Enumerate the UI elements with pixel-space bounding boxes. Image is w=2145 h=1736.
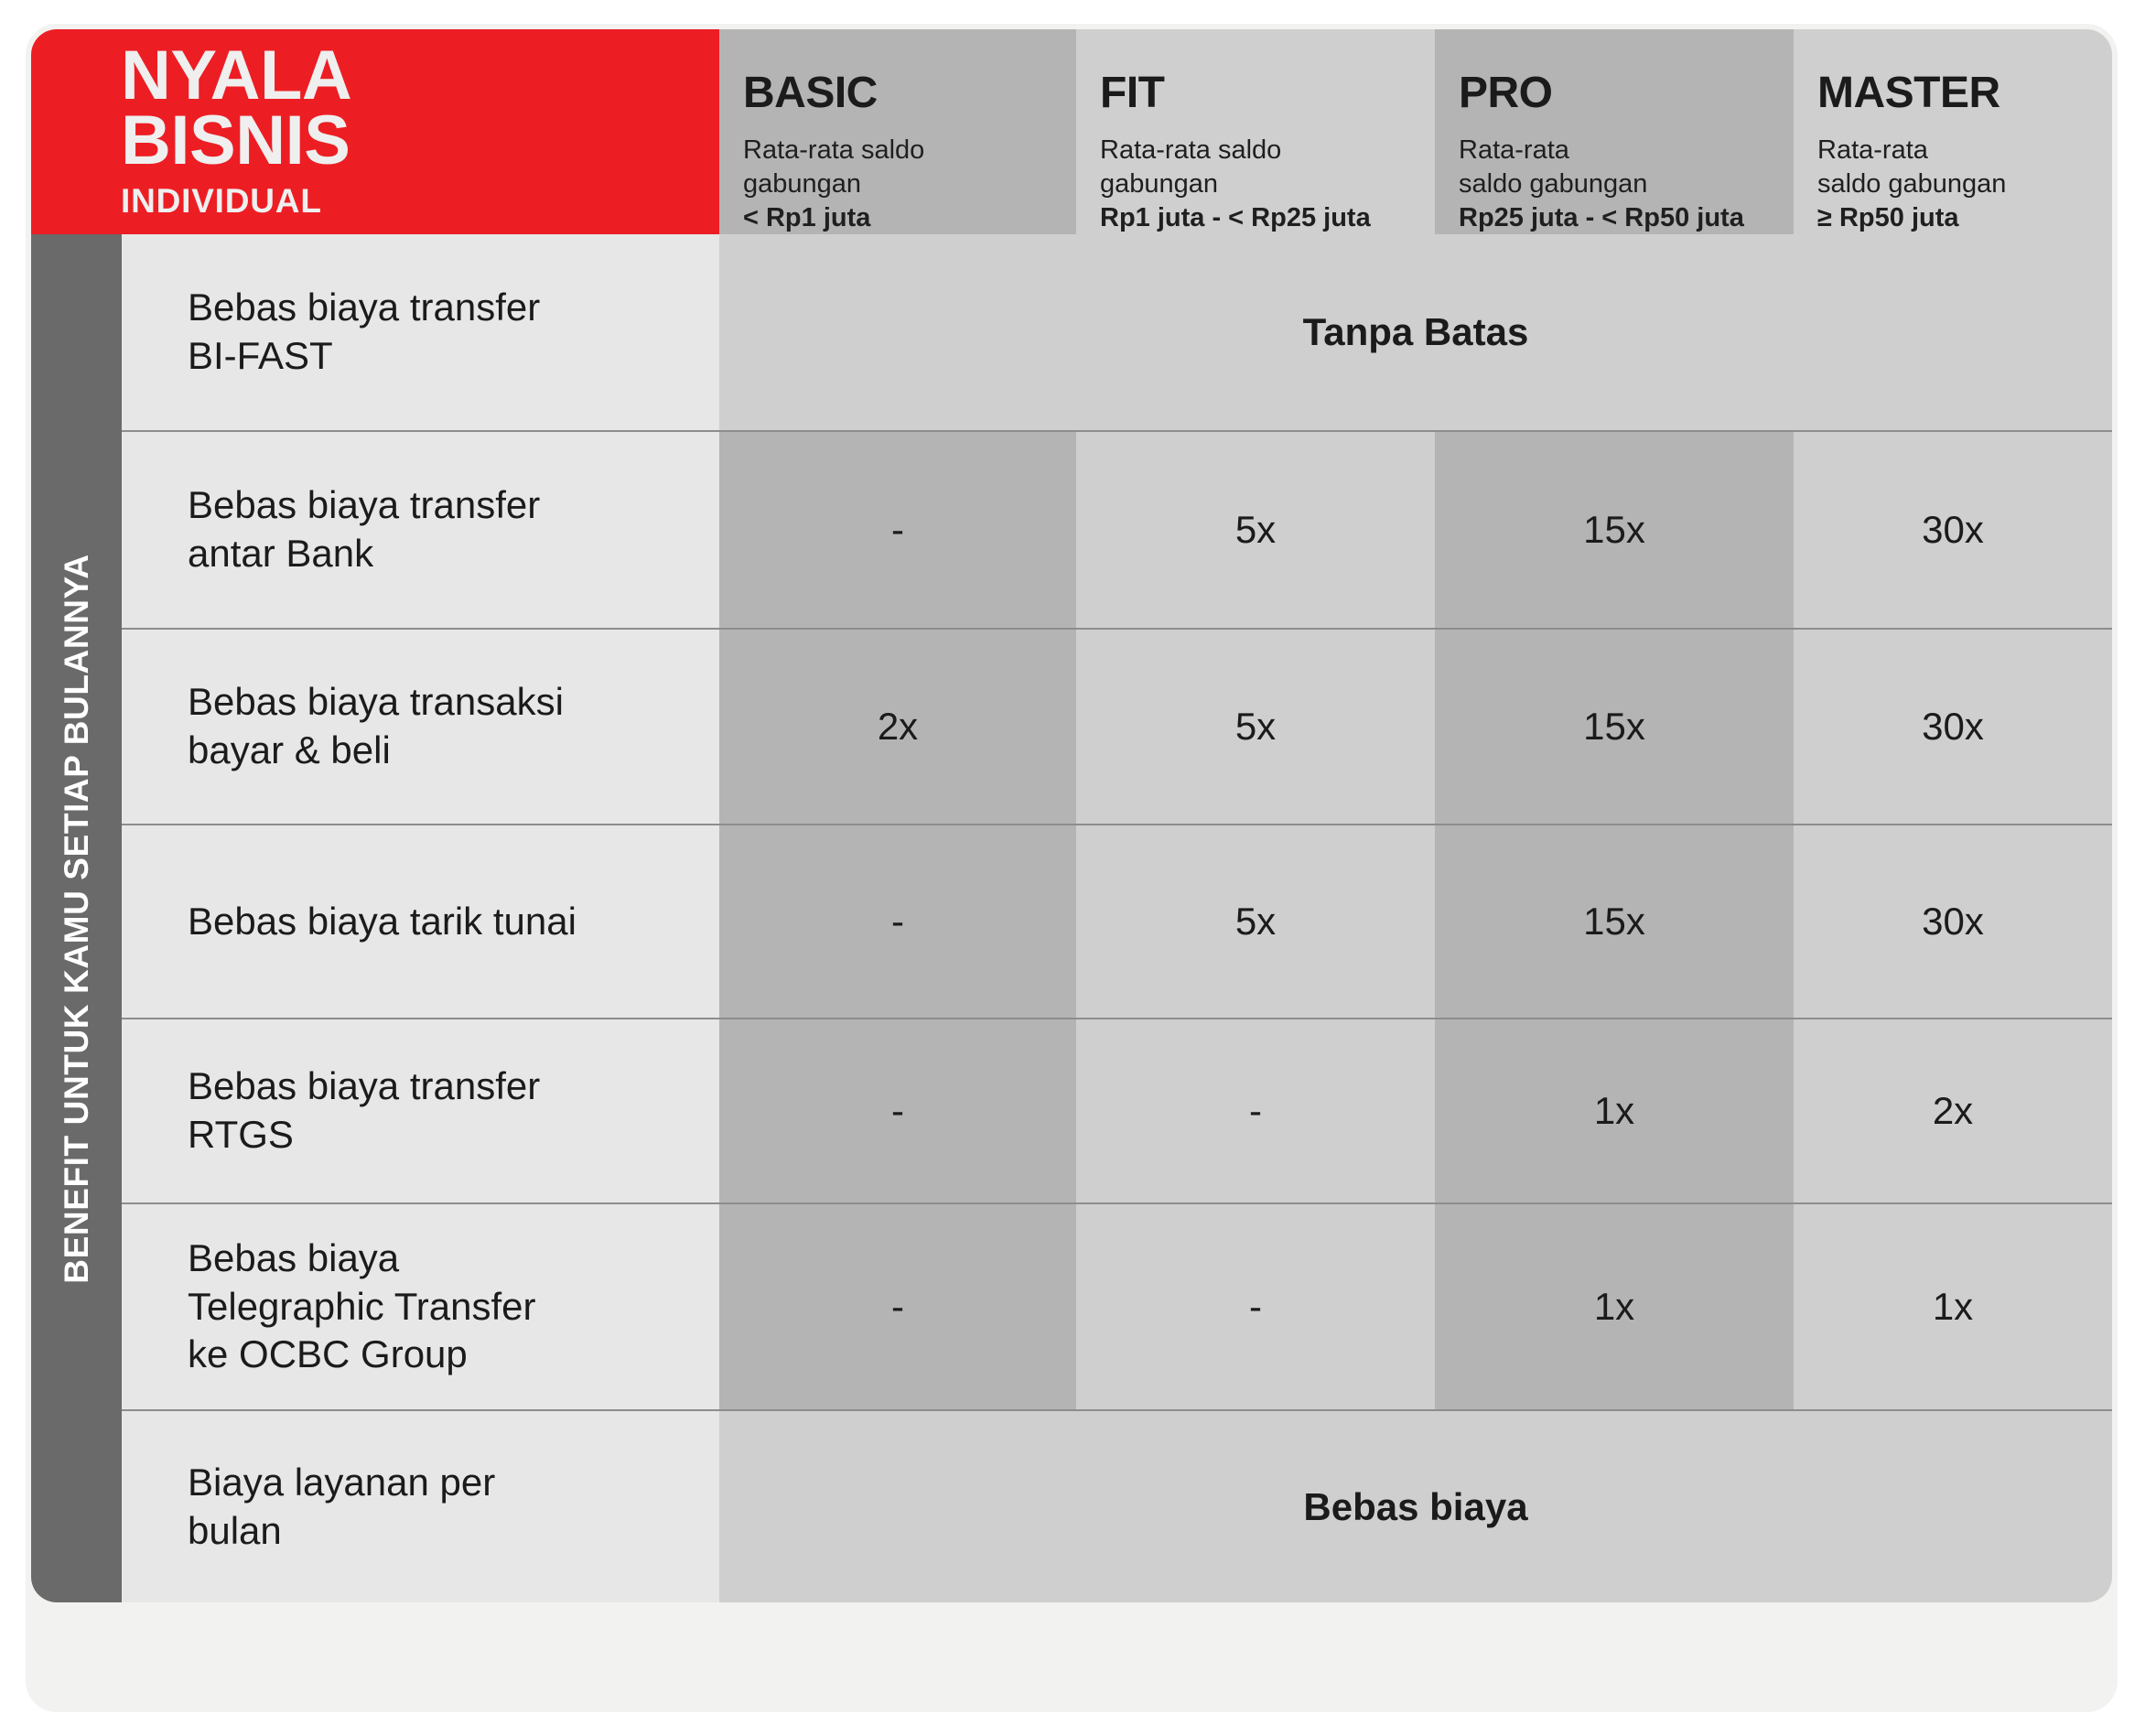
cell-antar-bank-basic: - [719,430,1076,628]
cell-telegraphic-pro: 1x [1435,1202,1794,1409]
row-label-biaya-layanan-text: Biaya layanan per bulan [188,1459,495,1556]
tier-desc-pro-line2: saldo gabungan [1459,169,1647,199]
tier-balance-basic: < Rp1 juta [743,203,870,232]
row-label-tarik-tunai-line1: Bebas biaya tarik tunai [188,900,577,943]
row-label-rtgs-line2: RTGS [188,1113,294,1156]
cell-bayar-beli-basic: 2x [719,628,1076,824]
cell-biaya-layanan-merged: Bebas biaya [719,1409,2112,1602]
cell-telegraphic-basic: - [719,1202,1076,1409]
tier-desc-pro-line1: Rata-rata [1459,135,1569,165]
tier-desc-fit-line2: gabungan [1100,169,1218,199]
row-label-tarik-tunai-text: Bebas biaya tarik tunai [188,898,577,946]
brand-block: NYALA BISNIS INDIVIDUAL [31,29,719,234]
tier-desc-master: Rata-rata saldo gabungan ≥ Rp50 juta [1817,134,2088,235]
cell-rtgs-pro: 1x [1435,1018,1794,1202]
row-label-telegraphic-line3: ke OCBC Group [188,1332,468,1375]
cell-bayar-beli-master: 30x [1794,628,2112,824]
tier-header-master[interactable]: MASTER Rata-rata saldo gabungan ≥ Rp50 j… [1794,29,2112,234]
cell-antar-bank-fit: 5x [1076,430,1435,628]
cell-rtgs-basic: - [719,1018,1076,1202]
tier-header-pro[interactable]: PRO Rata-rata saldo gabungan Rp25 juta -… [1435,29,1794,234]
cell-tarik-tunai-basic: - [719,824,1076,1018]
cell-tarik-tunai-master: 30x [1794,824,2112,1018]
tier-desc-pro: Rata-rata saldo gabungan Rp25 juta - < R… [1459,134,1770,235]
row-label-tarik-tunai: Bebas biaya tarik tunai [122,824,719,1018]
tier-balance-fit: Rp1 juta - < Rp25 juta [1100,203,1371,232]
row-label-telegraphic-line2: Telegraphic Transfer [188,1285,536,1328]
row-label-antar-bank-line1: Bebas biaya transfer [188,483,540,526]
tier-name-pro: PRO [1459,71,1770,115]
cell-bifast-merged: Tanpa Batas [719,234,2112,430]
row-label-bifast-text: Bebas biaya transfer BI-FAST [188,284,540,381]
tier-desc-basic: Rata-rata saldo gabungan < Rp1 juta [743,134,1052,235]
cell-bayar-beli-fit: 5x [1076,628,1435,824]
tier-name-fit: FIT [1100,71,1411,115]
cell-rtgs-master: 2x [1794,1018,2112,1202]
benefit-comparison-table: NYALA BISNIS INDIVIDUAL BASIC Rata-rata … [31,29,2112,1707]
row-label-biaya-layanan: Biaya layanan per bulan [122,1409,719,1602]
cell-antar-bank-pro: 15x [1435,430,1794,628]
tier-desc-master-line1: Rata-rata [1817,135,1928,165]
row-label-telegraphic-line1: Bebas biaya [188,1236,399,1279]
row-label-bayar-beli-line2: bayar & beli [188,728,391,771]
tier-header-fit[interactable]: FIT Rata-rata saldo gabungan Rp1 juta - … [1076,29,1435,234]
row-label-bayar-beli-text: Bebas biaya transaksi bayar & beli [188,678,564,775]
row-label-telegraphic-transfer: Bebas biaya Telegraphic Transfer ke OCBC… [122,1202,719,1409]
tier-desc-basic-line1: Rata-rata saldo [743,135,924,165]
row-label-telegraphic-transfer-text: Bebas biaya Telegraphic Transfer ke OCBC… [188,1235,536,1380]
row-label-rtgs-line1: Bebas biaya transfer [188,1064,540,1107]
benefit-rail: BENEFIT UNTUK KAMU SETIAP BULANNYA [31,234,122,1602]
tier-desc-master-line2: saldo gabungan [1817,169,2006,199]
tier-name-master: MASTER [1817,71,2088,115]
tier-desc-basic-line2: gabungan [743,169,861,199]
row-label-biaya-layanan-line1: Biaya layanan per [188,1461,495,1504]
tier-desc-fit: Rata-rata saldo gabungan Rp1 juta - < Rp… [1100,134,1411,235]
cell-tarik-tunai-pro: 15x [1435,824,1794,1018]
row-label-bifast: Bebas biaya transfer BI-FAST [122,234,719,430]
cell-telegraphic-master: 1x [1794,1202,2112,1409]
cell-tarik-tunai-fit: 5x [1076,824,1435,1018]
cell-antar-bank-master: 30x [1794,430,2112,628]
brand-line-2: BISNIS [121,108,719,173]
tier-balance-pro: Rp25 juta - < Rp50 juta [1459,203,1744,232]
row-label-rtgs-text: Bebas biaya transfer RTGS [188,1062,540,1159]
row-label-bifast-line1: Bebas biaya transfer [188,286,540,329]
row-label-antar-bank-text: Bebas biaya transfer antar Bank [188,481,540,578]
tier-name-basic: BASIC [743,71,1052,115]
cell-bayar-beli-pro: 15x [1435,628,1794,824]
row-label-antar-bank-line2: antar Bank [188,532,373,575]
row-label-bayar-beli-line1: Bebas biaya transaksi [188,680,564,723]
row-label-bayar-beli: Bebas biaya transaksi bayar & beli [122,628,719,824]
row-label-antar-bank: Bebas biaya transfer antar Bank [122,430,719,628]
tier-header-basic[interactable]: BASIC Rata-rata saldo gabungan < Rp1 jut… [719,29,1076,234]
row-label-bifast-line2: BI-FAST [188,334,333,377]
benefit-rail-label: BENEFIT UNTUK KAMU SETIAP BULANNYA [58,554,96,1283]
tier-desc-fit-line1: Rata-rata saldo [1100,135,1281,165]
row-label-biaya-layanan-line2: bulan [188,1509,282,1552]
tier-balance-master: ≥ Rp50 juta [1817,203,1959,232]
brand-subtitle: INDIVIDUAL [121,182,719,221]
pricing-table-page: NYALA BISNIS INDIVIDUAL BASIC Rata-rata … [0,0,2145,1736]
cell-telegraphic-fit: - [1076,1202,1435,1409]
brand-line-1: NYALA [121,43,719,108]
row-label-rtgs: Bebas biaya transfer RTGS [122,1018,719,1202]
cell-rtgs-fit: - [1076,1018,1435,1202]
